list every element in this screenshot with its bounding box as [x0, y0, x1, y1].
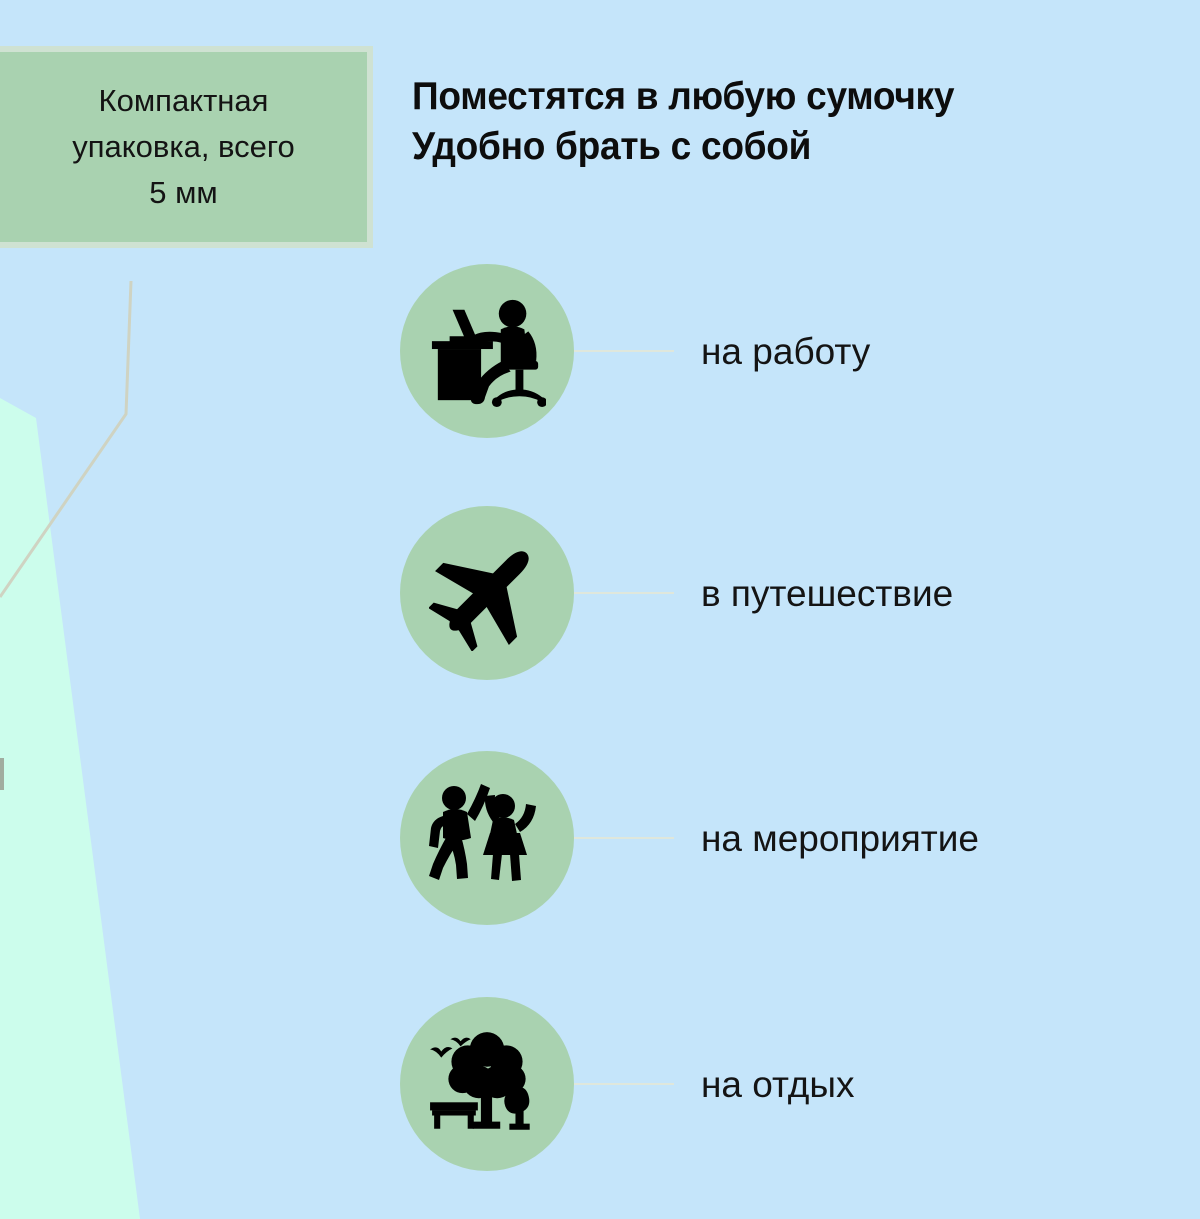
airplane-icon	[429, 535, 545, 651]
headline: Поместятся в любую сумочку Удобно брать …	[412, 72, 1132, 172]
list-item-label: на мероприятие	[701, 820, 979, 857]
list-item-label: на работу	[701, 333, 870, 370]
list-item: на работу	[400, 264, 1200, 438]
connector-line	[568, 1083, 674, 1085]
connector-line	[568, 837, 674, 839]
list-item-label: в путешествие	[701, 575, 953, 612]
list-item: на мероприятие	[400, 751, 1200, 925]
thin-polyline-decoration	[0, 281, 131, 597]
headline-line-1: Поместятся в любую сумочку	[412, 72, 1096, 122]
list-item-label: на отдых	[701, 1066, 854, 1103]
icon-badge-work	[400, 264, 574, 438]
edge-marker-decoration	[0, 758, 4, 790]
icon-badge-leisure	[400, 997, 574, 1171]
dancing-people-icon	[427, 778, 547, 898]
compact-package-callout: Компактная упаковка, всего 5 мм	[0, 46, 373, 248]
headline-line-2: Удобно брать с собой	[412, 122, 1096, 172]
connector-line	[568, 592, 674, 594]
list-item: в путешествие	[400, 506, 1200, 680]
connector-line	[568, 350, 674, 352]
icon-badge-travel	[400, 506, 574, 680]
icon-badge-event	[400, 751, 574, 925]
list-item: на отдых	[400, 997, 1200, 1171]
desk-worker-icon	[428, 292, 546, 410]
mint-wedge-shape	[0, 398, 140, 1219]
promo-slide: Компактная упаковка, всего 5 мм Поместят…	[0, 0, 1200, 1219]
callout-text: Компактная упаковка, всего 5 мм	[72, 78, 295, 216]
park-tree-bench-icon	[426, 1023, 548, 1145]
